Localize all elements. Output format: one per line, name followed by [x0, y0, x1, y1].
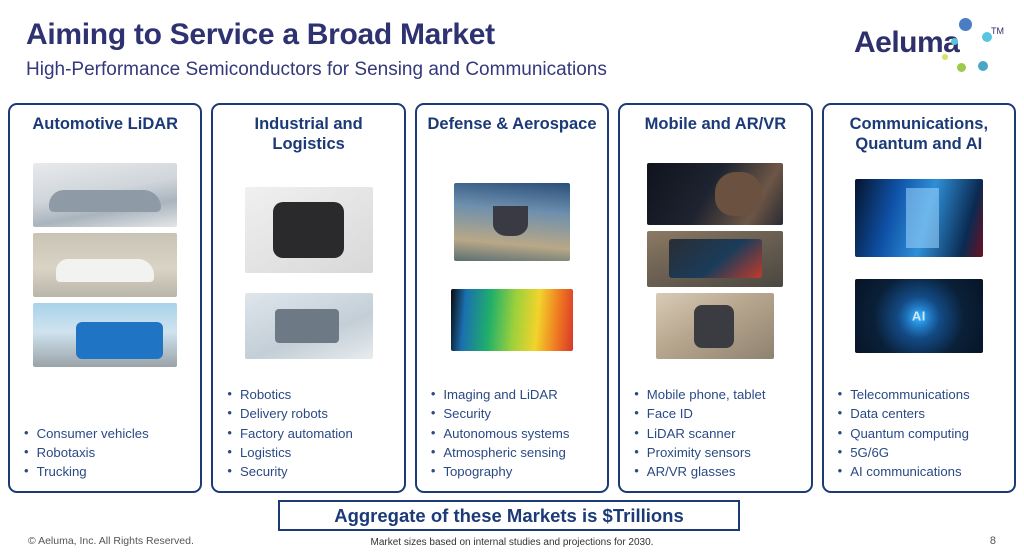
card-title: Mobile and AR/VR: [626, 114, 804, 158]
bullet-dot-icon: •: [227, 424, 232, 443]
list-item: •Imaging and LiDAR: [431, 385, 601, 404]
lidar-topography-map: [451, 289, 573, 351]
bullet-dot-icon: •: [431, 404, 436, 423]
company-logo: Aeluma TM: [854, 14, 1006, 74]
logo-dot-green-icon: [957, 63, 966, 72]
page-title: Aiming to Service a Broad Market: [26, 18, 495, 52]
bullet-dot-icon: •: [634, 462, 639, 481]
bullet-dot-icon: •: [24, 424, 29, 443]
autonomous-truck-photo: [33, 303, 177, 367]
card-images: [219, 158, 397, 359]
bullet-dot-icon: •: [24, 443, 29, 462]
card-title: Defense & Aerospace: [423, 114, 601, 158]
bullet-dot-icon: •: [838, 462, 843, 481]
trademark-symbol: TM: [991, 26, 1004, 36]
bullet-label: AR/VR glasses: [647, 462, 736, 481]
bullet-dot-icon: •: [227, 443, 232, 462]
list-item: •Proximity sensors: [634, 443, 804, 462]
bullet-dot-icon: •: [431, 462, 436, 481]
bullet-label: LiDAR scanner: [647, 424, 736, 443]
aircraft-sensor-pod-photo: [454, 183, 570, 261]
logo-dot-blue-icon: [959, 18, 972, 31]
bullet-label: Topography: [443, 462, 512, 481]
list-item: •AI communications: [838, 462, 1008, 481]
list-item: •Factory automation: [227, 424, 397, 443]
bullet-label: Logistics: [240, 443, 291, 462]
aggregate-market-label: Aggregate of these Markets is $Trillions: [334, 505, 684, 527]
list-item: •Logistics: [227, 443, 397, 462]
list-item: •Quantum computing: [838, 424, 1008, 443]
card-images: [830, 158, 1008, 353]
bullet-label: Imaging and LiDAR: [443, 385, 557, 404]
bullet-label: Factory automation: [240, 424, 353, 443]
copyright-notice: © Aeluma, Inc. All Rights Reserved.: [28, 535, 194, 547]
page-number: 8: [990, 535, 996, 547]
card-title: Communications, Quantum and AI: [830, 114, 1008, 158]
logo-dot-cyan-icon: [982, 32, 992, 42]
market-card-defense-aerospace[interactable]: Defense & Aerospace •Imaging and LiDAR •…: [415, 103, 609, 493]
bullet-dot-icon: •: [227, 462, 232, 481]
list-item: •Robotaxis: [24, 443, 194, 462]
bullet-label: Robotaxis: [37, 443, 96, 462]
card-title: Industrial and Logistics: [219, 114, 397, 158]
bullet-dot-icon: •: [634, 424, 639, 443]
list-item: •Delivery robots: [227, 404, 397, 423]
list-item: •Topography: [431, 462, 601, 481]
market-card-industrial-logistics[interactable]: Industrial and Logistics •Robotics •Deli…: [211, 103, 405, 493]
list-item: •LiDAR scanner: [634, 424, 804, 443]
bullet-label: AI communications: [850, 462, 961, 481]
list-item: •5G/6G: [838, 443, 1008, 462]
ar-tablet-photo: [647, 231, 783, 287]
bullet-label: Consumer vehicles: [37, 424, 149, 443]
factory-automation-photo: [245, 293, 373, 359]
card-bullets: •Mobile phone, tablet •Face ID •LiDAR sc…: [626, 379, 804, 483]
bullet-label: Mobile phone, tablet: [647, 385, 766, 404]
warehouse-robot-photo: [245, 187, 373, 273]
logo-dot-cyan-small-icon: [951, 38, 958, 45]
list-item: •Telecommunications: [838, 385, 1008, 404]
bullet-label: Trucking: [37, 462, 87, 481]
face-id-scan-photo: [647, 163, 783, 225]
bullet-label: Quantum computing: [850, 424, 969, 443]
bullet-dot-icon: •: [838, 443, 843, 462]
card-bullets: •Consumer vehicles •Robotaxis •Trucking: [16, 418, 194, 483]
aggregate-market-banner: Aggregate of these Markets is $Trillions: [278, 500, 740, 531]
bullet-label: Delivery robots: [240, 404, 328, 423]
market-card-communications-quantum-ai[interactable]: Communications, Quantum and AI •Telecomm…: [822, 103, 1016, 493]
logo-dot-lime-icon: [942, 54, 948, 60]
card-title: Automotive LiDAR: [16, 114, 194, 158]
electric-suv-photo: [33, 163, 177, 227]
data-center-photo: [855, 179, 983, 257]
bullet-dot-icon: •: [431, 385, 436, 404]
bullet-dot-icon: •: [838, 424, 843, 443]
bullet-dot-icon: •: [634, 443, 639, 462]
list-item: •Security: [227, 462, 397, 481]
ai-chip-photo: [855, 279, 983, 353]
list-item: •Trucking: [24, 462, 194, 481]
bullet-label: Telecommunications: [850, 385, 969, 404]
bullet-label: 5G/6G: [850, 443, 889, 462]
page-subtitle: High-Performance Semiconductors for Sens…: [26, 59, 607, 81]
market-cards: Automotive LiDAR •Consumer vehicles •Rob…: [8, 103, 1016, 493]
bullet-dot-icon: •: [634, 385, 639, 404]
card-images: [16, 158, 194, 367]
list-item: •Robotics: [227, 385, 397, 404]
bullet-dot-icon: •: [24, 462, 29, 481]
card-bullets: •Robotics •Delivery robots •Factory auto…: [219, 379, 397, 483]
bullet-dot-icon: •: [227, 385, 232, 404]
bullet-label: Security: [240, 462, 288, 481]
bullet-dot-icon: •: [838, 404, 843, 423]
bullet-label: Robotics: [240, 385, 291, 404]
bullet-dot-icon: •: [431, 424, 436, 443]
bullet-dot-icon: •: [838, 385, 843, 404]
bullet-label: Security: [443, 404, 491, 423]
list-item: •Autonomous systems: [431, 424, 601, 443]
bullet-label: Face ID: [647, 404, 693, 423]
bullet-label: Data centers: [850, 404, 925, 423]
vr-headset-photo: [656, 293, 774, 359]
list-item: •AR/VR glasses: [634, 462, 804, 481]
robotaxi-photo: [33, 233, 177, 297]
card-images: [626, 158, 804, 359]
bullet-label: Atmospheric sensing: [443, 443, 565, 462]
logo-dot-teal-icon: [978, 61, 988, 71]
list-item: •Face ID: [634, 404, 804, 423]
card-bullets: •Imaging and LiDAR •Security •Autonomous…: [423, 379, 601, 483]
slide: Aiming to Service a Broad Market High-Pe…: [0, 0, 1024, 557]
bullet-label: Autonomous systems: [443, 424, 569, 443]
card-images: [423, 158, 601, 351]
bullet-dot-icon: •: [227, 404, 232, 423]
list-item: •Atmospheric sensing: [431, 443, 601, 462]
list-item: •Security: [431, 404, 601, 423]
card-bullets: •Telecommunications •Data centers •Quant…: [830, 379, 1008, 483]
list-item: •Mobile phone, tablet: [634, 385, 804, 404]
list-item: •Consumer vehicles: [24, 424, 194, 443]
list-item: •Data centers: [838, 404, 1008, 423]
bullet-dot-icon: •: [634, 404, 639, 423]
bullet-dot-icon: •: [431, 443, 436, 462]
market-card-automotive-lidar[interactable]: Automotive LiDAR •Consumer vehicles •Rob…: [8, 103, 202, 493]
bullet-label: Proximity sensors: [647, 443, 751, 462]
market-card-mobile-arvr[interactable]: Mobile and AR/VR •Mobile phone, tablet •…: [618, 103, 812, 493]
